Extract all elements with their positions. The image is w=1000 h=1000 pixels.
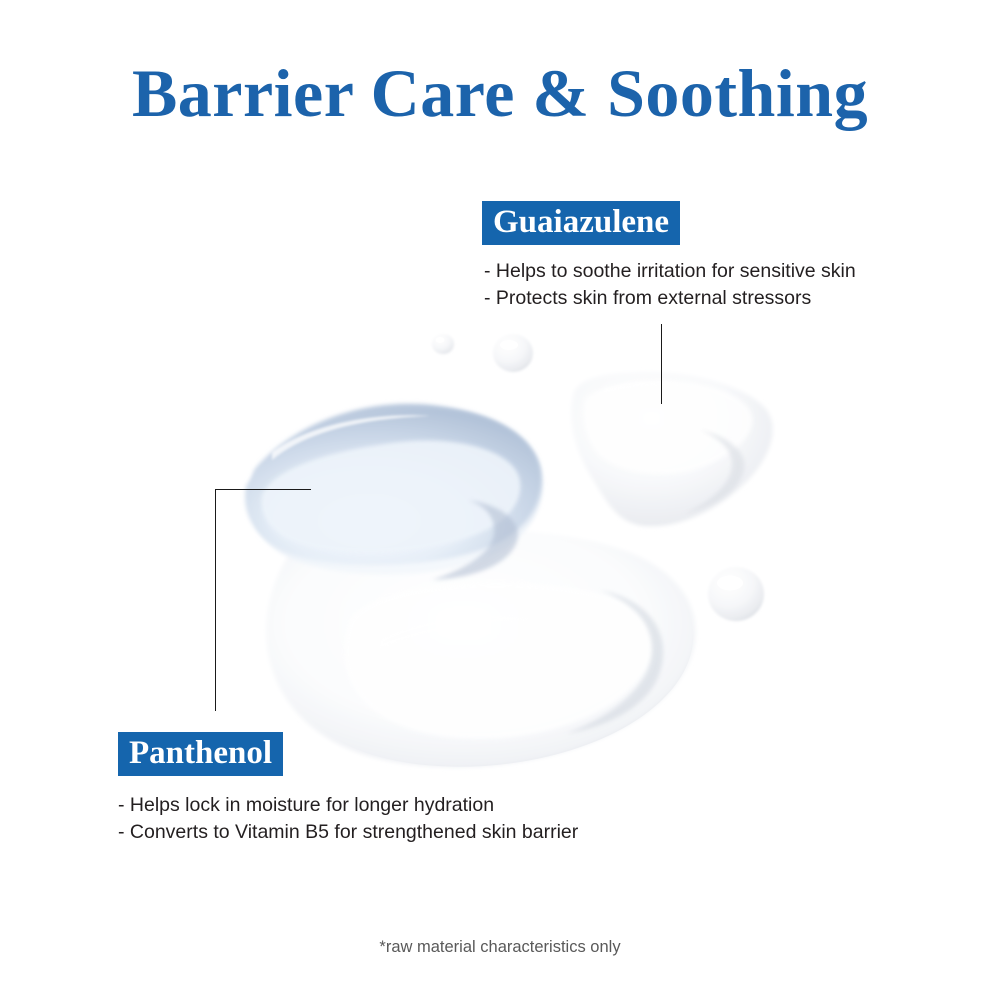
cosmetic-swatch-artwork (0, 0, 1000, 1000)
bullet-item: - Protects skin from external stressors (484, 285, 856, 312)
badge-guaiazulene: Guaiazulene (482, 201, 680, 245)
leader-line-guaiazulene (661, 324, 662, 404)
white-cream-swatch (266, 528, 696, 768)
blue-cream-swatch (245, 404, 542, 580)
bullet-item: - Helps lock in moisture for longer hydr… (118, 792, 578, 819)
bullet-item: - Converts to Vitamin B5 for strengthene… (118, 819, 578, 846)
droplet-small (432, 334, 454, 354)
droplet-large (708, 567, 764, 621)
leader-line-panthenol-horizontal (215, 489, 311, 490)
clear-gel-blob (571, 372, 772, 526)
footnote: *raw material characteristics only (0, 938, 1000, 957)
bullets-panthenol: - Helps lock in moisture for longer hydr… (118, 792, 578, 846)
page-title: Barrier Care & Soothing (0, 54, 1000, 132)
droplet-medium (493, 334, 533, 372)
bullet-item: - Helps to soothe irritation for sensiti… (484, 258, 856, 285)
bullets-guaiazulene: - Helps to soothe irritation for sensiti… (484, 258, 856, 312)
badge-panthenol: Panthenol (118, 732, 283, 776)
leader-line-panthenol-vertical (215, 489, 216, 711)
